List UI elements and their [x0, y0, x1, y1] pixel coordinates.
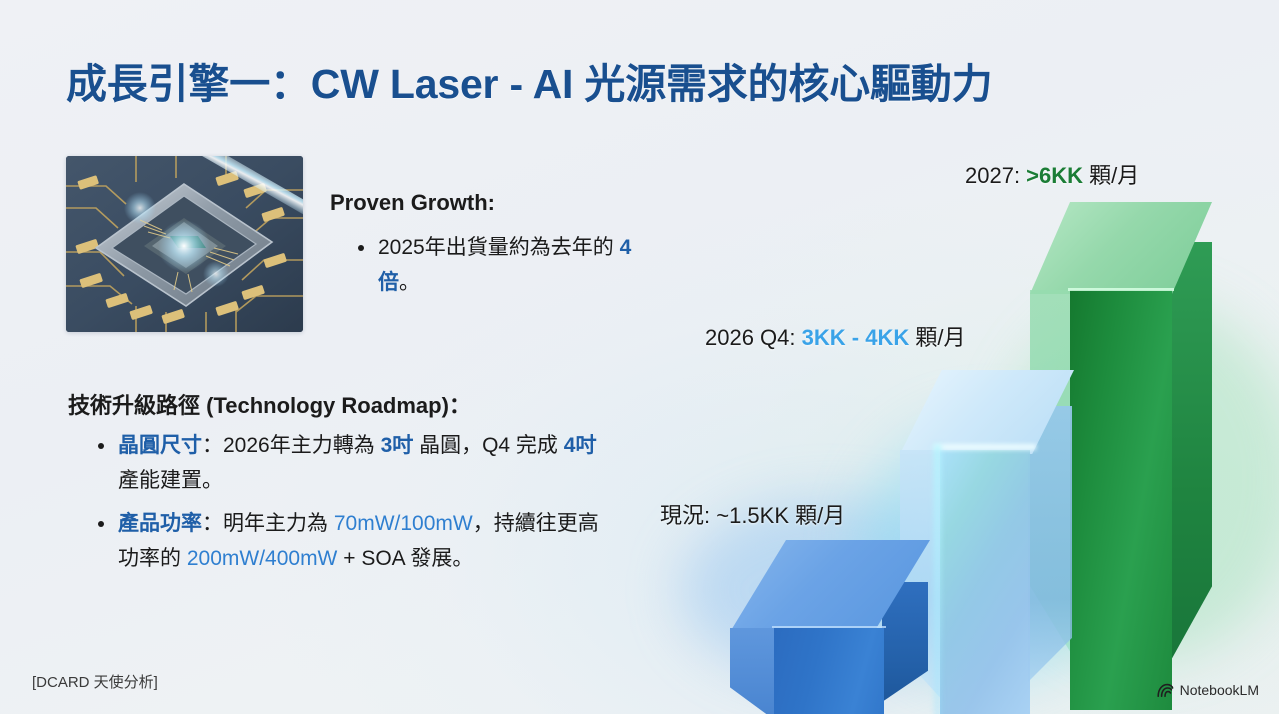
laser-chip-photo: [66, 156, 303, 332]
bar-current: [730, 540, 945, 714]
bar-label-2026q4-prefix: 2026 Q4:: [705, 325, 802, 350]
bar-label-2027-value: >6KK: [1026, 163, 1083, 188]
bar-current-back: [730, 628, 778, 714]
roadmap-text-power-a: ：明年主力為: [202, 512, 334, 535]
roadmap-label-wafer: 晶圓尺寸: [118, 434, 202, 457]
list-item: 2025年出貨量約為去年的 4倍。: [356, 230, 656, 300]
roadmap-label-power: 產品功率: [118, 512, 202, 535]
notebooklm-brand: NotebookLM: [1157, 682, 1259, 698]
list-item: 晶圓尺寸：2026年主力轉為 3吋 晶圓，Q4 完成 4吋 產能建置。: [96, 428, 616, 498]
bar-label-2026q4: 2026 Q4: 3KK - 4KK 顆/月: [705, 320, 965, 352]
bullet-text-1: 2025年出貨量約為去年的 4倍。: [378, 236, 631, 294]
highlight-3inch: 3吋: [381, 434, 414, 457]
bar-2027-edge-highlight: [1068, 288, 1174, 291]
roadmap-text-wafer-b: 晶圓，Q4 完成: [413, 434, 564, 457]
bar-label-current-prefix: 現況:: [660, 503, 716, 528]
list-item: 產品功率：明年主力為 70mW/100mW，持續往更高功率的 200mW/400…: [96, 506, 616, 576]
proven-growth-heading: Proven Growth:: [330, 190, 495, 216]
roadmap-heading: 技術升級路徑 (Technology Roadmap)：: [68, 388, 471, 420]
bar-label-2026q4-suffix: 顆/月: [909, 325, 965, 350]
footer-source-note: [DCARD 天使分析]: [32, 671, 158, 692]
bar-label-2027: 2027: >6KK 顆/月: [965, 158, 1139, 190]
roadmap-text-power-c: + SOA 發展。: [337, 547, 473, 570]
roadmap-list: 晶圓尺寸：2026年主力轉為 3吋 晶圓，Q4 完成 4吋 產能建置。 產品功率…: [96, 428, 616, 584]
proven-growth-list: 2025年出貨量約為去年的 4倍。: [356, 230, 656, 308]
bar-label-2026q4-value: 3KK - 4KK: [802, 325, 910, 350]
slide-canvas: 成長引擎一：CW Laser - AI 光源需求的核心驅動力: [0, 0, 1279, 714]
highlight-4inch: 4吋: [564, 434, 597, 457]
bar-2027-side: [1170, 242, 1212, 662]
highlight-4x: 4倍: [378, 236, 631, 294]
bar-label-current-value: ~1.5KK: [716, 503, 789, 528]
bar-label-current: 現況: ~1.5KK 顆/月: [660, 498, 845, 530]
notebooklm-brand-label: NotebookLM: [1180, 682, 1259, 698]
highlight-70-100mw: 70mW/100mW: [334, 512, 473, 535]
highlight-200-400mw: 200mW/400mW: [187, 547, 338, 570]
page-title: 成長引擎一：CW Laser - AI 光源需求的核心驅動力: [66, 50, 992, 110]
bar-2026q4-front: [940, 450, 1030, 714]
bar-label-2027-prefix: 2027:: [965, 163, 1026, 188]
roadmap-text-wafer-a: ：2026年主力轉為: [202, 434, 381, 457]
growth-bar-chart: 2027: >6KK 顆/月 2026 Q4: 3KK - 4KK 顆/月 現況…: [620, 120, 1279, 680]
bar-current-edge-highlight: [772, 626, 886, 628]
bar-label-2027-suffix: 顆/月: [1083, 163, 1139, 188]
bar-2026q4-edge-glow: [934, 444, 1036, 450]
roadmap-text-wafer-c: 產能建置。: [118, 469, 223, 492]
bar-current-front: [774, 628, 884, 714]
bar-label-current-suffix: 顆/月: [789, 503, 845, 528]
notebooklm-logo-icon: [1157, 683, 1174, 698]
